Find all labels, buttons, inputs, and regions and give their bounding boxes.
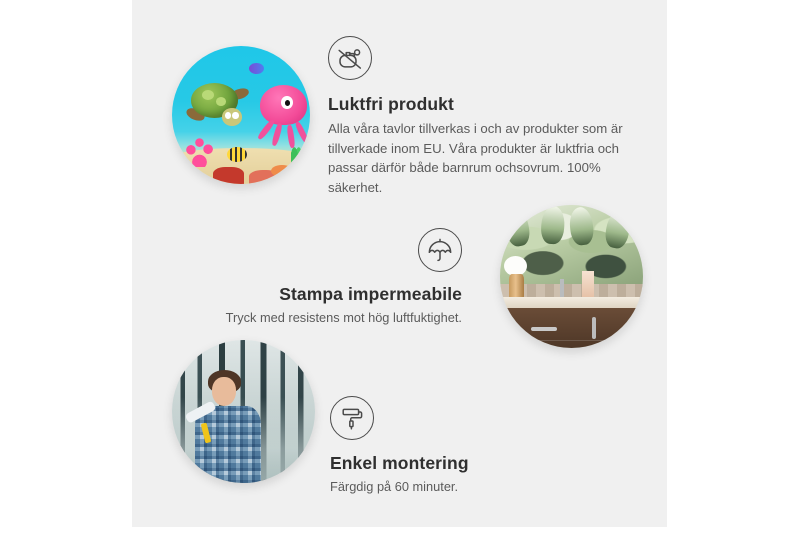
feature-title: Enkel montering xyxy=(330,453,600,474)
feature-assembly: Enkel montering Färgdig på 60 minuter. xyxy=(330,396,600,497)
cabinet-drawer xyxy=(506,340,637,346)
feature-odourless: Luktfri produkt Alla våra tavlor tillver… xyxy=(328,36,628,197)
content-panel: Luktfri produkt Alla våra tavlor tillver… xyxy=(132,0,667,527)
pink-coral xyxy=(183,134,216,167)
paint-roller-icon xyxy=(330,396,374,440)
turtle-head xyxy=(222,108,243,126)
product-feature-infographic: Luktfri produkt Alla våra tavlor tillver… xyxy=(0,0,800,533)
drawer-handle xyxy=(531,327,557,331)
woman-face xyxy=(212,377,236,406)
wood-cabinet xyxy=(500,308,643,348)
bathroom-scene-art xyxy=(500,205,643,348)
feature-title: Luktfri produkt xyxy=(328,94,628,115)
no-fragrance-icon xyxy=(328,36,372,80)
forest-scene-art xyxy=(172,340,315,483)
octopus-tentacle xyxy=(271,123,283,147)
feature-title: Stampa impermeabile xyxy=(200,284,462,305)
photo-bathroom-botanical-wallpaper xyxy=(500,205,643,348)
photo-woman-paint-roller-forest xyxy=(172,340,315,483)
umbrella-icon xyxy=(418,228,462,272)
woman-plaid-shirt xyxy=(195,406,261,483)
photo-underwater-kids-scene xyxy=(172,46,310,184)
leaf-motif xyxy=(540,205,565,245)
leaf-motif xyxy=(568,206,595,246)
feature-waterproof: Stampa impermeabile Tryck med resistens … xyxy=(200,228,462,328)
ocean-scene-art xyxy=(172,46,310,184)
red-rock xyxy=(213,167,243,184)
leaf-motif xyxy=(502,207,531,249)
feature-description: Alla våra tavlor tillverkas i och av pro… xyxy=(328,119,628,197)
leaf-motif xyxy=(603,209,632,251)
feature-description: Färgdig på 60 minuter. xyxy=(330,477,600,497)
cabinet-handle xyxy=(592,317,596,340)
purple-fish xyxy=(249,63,264,74)
feature-description: Tryck med resistens mot hög luftfuktighe… xyxy=(200,308,462,328)
yellow-fish xyxy=(227,147,246,162)
